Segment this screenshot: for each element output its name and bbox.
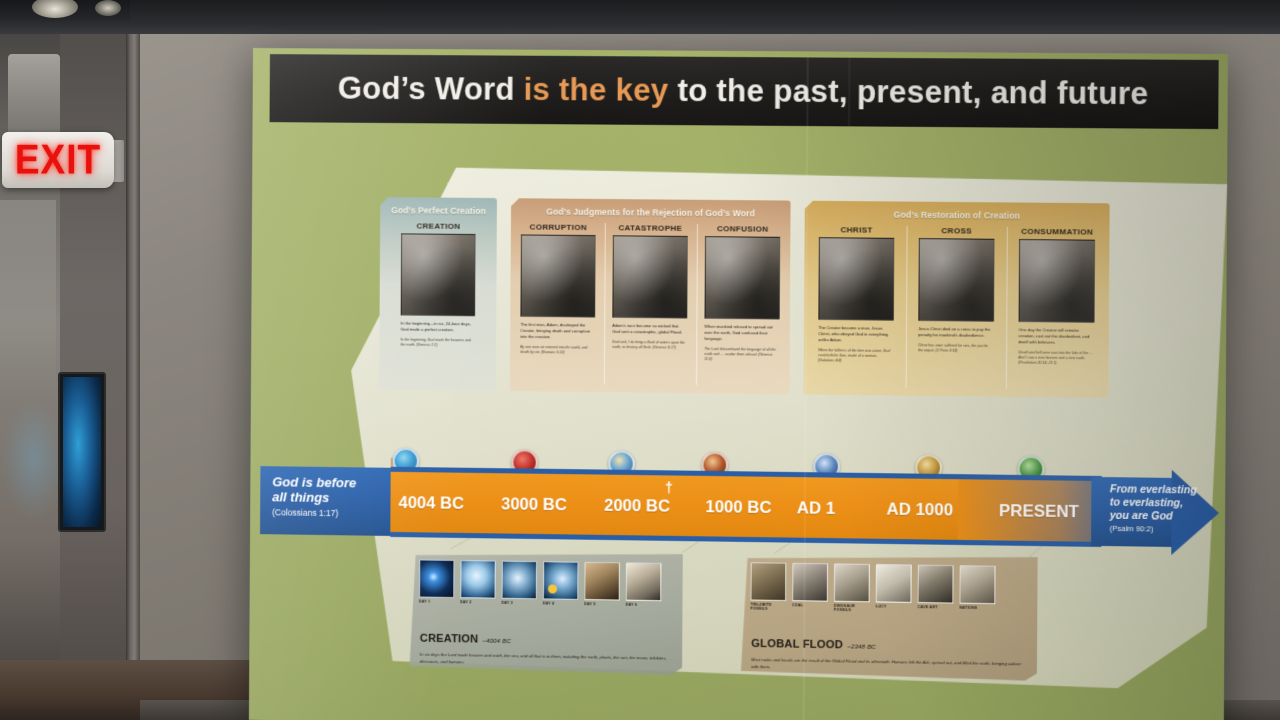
creation-callout: DAY 1 DAY 2 DAY 3 DAY 4 DAY 5 [410, 550, 683, 675]
card-body: One day the Creator will remake creation… [1018, 327, 1094, 346]
callout-date: ~4004 BC [482, 639, 511, 645]
card-cross[interactable]: CROSS Jesus Christ died on a cross to pa… [916, 226, 997, 354]
card-title: CORRUPTION [530, 222, 587, 232]
ceiling-light-icon [95, 0, 121, 16]
callout-title: CREATION~4004 BC [420, 633, 511, 646]
thumb-image [419, 559, 454, 598]
section-perfect-creation: God’s Perfect Creation CREATION In the b… [379, 197, 497, 391]
timeline: God is before all things (Colossians 1:1… [260, 456, 1225, 558]
thumb-label: COAL [792, 603, 828, 608]
card-body: Jesus Christ died on a cross to pay the … [918, 326, 994, 339]
thumb-label: DAY 3 [502, 601, 537, 606]
ceiling-panel [130, 0, 1280, 22]
thumb-image [792, 563, 828, 602]
card-verse: Death and hell were cast into the lake o… [1018, 350, 1094, 366]
section-heading: God’s Restoration of Creation [805, 209, 1110, 222]
wall-highlight [0, 200, 56, 400]
room-pillar [126, 0, 140, 720]
cards-group: CREATION In the beginning—in six, 24-hou… [379, 221, 497, 391]
title-seam [848, 58, 850, 127]
thumb-nations[interactable]: NATIONS [959, 565, 995, 615]
callout-date: ~2348 BC [847, 644, 876, 651]
thumb-image [751, 562, 787, 601]
title-part-after: to the past, present, and future [668, 73, 1148, 112]
exit-sign-label: EXIT [15, 136, 101, 183]
thumb-image [584, 562, 620, 601]
callout-title: GLOBAL FLOOD~2348 BC [751, 638, 876, 652]
card-verse: Christ has once suffered for sins, the j… [918, 343, 994, 354]
card-creation[interactable]: CREATION In the beginning—in six, 24-hou… [398, 221, 477, 348]
timeline-date-ad1000: AD 1000 [886, 501, 953, 521]
card-corruption[interactable]: CORRUPTION The first man, Adam, disobeye… [518, 222, 598, 355]
callout-body: In six days the Lord made heaven and ear… [420, 652, 685, 669]
thumb-day-3[interactable]: DAY 3 [502, 561, 538, 606]
monitor-glow [2, 400, 66, 520]
exit-sign: EXIT [2, 132, 114, 188]
thumb-dinosaur-fossils[interactable]: DINOSAUR FOSSILS [834, 563, 870, 613]
thumb-image [834, 563, 870, 602]
card-christ[interactable]: CHRIST The Creator became a man, Jesus C… [816, 225, 896, 364]
callout-body: Most rocks and fossils are the result of… [751, 657, 1029, 675]
card-consummation[interactable]: CONSUMMATION One day the Creator will re… [1016, 227, 1097, 366]
left-label-line2: all things [272, 490, 388, 507]
thumb-label: DAY 4 [543, 601, 578, 606]
card-title: CONSUMMATION [1021, 227, 1093, 237]
card-image [918, 238, 994, 322]
timeline-date-present: PRESENT [999, 502, 1079, 522]
timeline-date-1000bc: 1000 BC [705, 498, 771, 518]
poster-title: God’s Word is the key to the past, prese… [338, 71, 1149, 113]
sun-icon [548, 584, 557, 593]
cards-group: CHRIST The Creator became a man, Jesus C… [804, 225, 1110, 398]
thumb-label: DAY 6 [626, 603, 661, 608]
card-verse: When the fullness of the time was come, … [818, 348, 894, 364]
card-image [1019, 239, 1095, 323]
thumb-label: CAVE ART [918, 605, 954, 610]
card-confusion[interactable]: CONFUSION When mankind refused to spread… [702, 224, 782, 362]
card-image [401, 233, 476, 316]
card-verse: The Lord did confound the language of al… [704, 347, 779, 363]
card-body: In the beginning—in six, 24-hour days, G… [401, 321, 475, 334]
thumb-day-2[interactable]: DAY 2 [460, 560, 496, 605]
thumb-image [626, 562, 662, 601]
thumb-trilobite-fossils[interactable]: TRILOBITE FOSSILS [750, 562, 786, 612]
thumb-cave-art[interactable]: CAVE ART [918, 565, 954, 615]
thumb-image [502, 561, 538, 600]
callout-title-text: CREATION [420, 633, 479, 646]
thumb-coal[interactable]: COAL [792, 563, 828, 613]
card-body: When mankind refused to spread out over … [704, 324, 779, 343]
card-image [520, 234, 595, 317]
thumb-day-4[interactable]: DAY 4 [543, 561, 579, 606]
timeline-date-4004bc: 4004 BC [398, 494, 464, 514]
timeline-date-3000bc: 3000 BC [501, 495, 567, 515]
card-image [818, 237, 894, 321]
wall-poster: God’s Word is the key to the past, prese… [249, 48, 1228, 720]
card-title: CHRIST [840, 225, 872, 234]
thumb-day-1[interactable]: DAY 1 [419, 559, 454, 604]
creation-thumbs: DAY 1 DAY 2 DAY 3 DAY 4 DAY 5 [419, 559, 661, 607]
flood-thumbs: TRILOBITE FOSSILS COAL DINOSAUR FOSSILS … [750, 562, 995, 615]
card-body: The Creator became a man, Jesus Christ, … [818, 325, 894, 344]
card-verse: By one man sin entered into the world, a… [520, 345, 595, 356]
thumb-label: LUCY [876, 604, 912, 609]
thumb-day-5[interactable]: DAY 5 [584, 562, 620, 607]
card-body: Adam’s race became so wicked that God se… [612, 323, 687, 336]
monitor-screen [63, 377, 101, 527]
card-image [612, 235, 687, 318]
card-title: CREATION [416, 221, 460, 230]
panels-row: God’s Perfect Creation CREATION In the b… [379, 197, 1112, 406]
thumb-image [460, 560, 495, 599]
thumb-image [918, 565, 954, 604]
thumb-label: DAY 2 [460, 600, 495, 605]
card-catastrophe[interactable]: CATASTROPHE Adam’s race became so wicked… [610, 223, 690, 350]
card-title: CROSS [941, 226, 972, 235]
section-judgments: God’s Judgments for the Rejection of God… [510, 198, 791, 394]
cross-marker-icon: † [665, 479, 673, 495]
cards-group: CORRUPTION The first man, Adam, disobeye… [510, 222, 791, 394]
thumb-image [959, 565, 995, 604]
thumb-day-6[interactable]: DAY 6 [626, 562, 662, 607]
poster-title-bar: God’s Word is the key to the past, prese… [270, 54, 1219, 129]
flood-callout: TRILOBITE FOSSILS COAL DINOSAUR FOSSILS … [741, 553, 1038, 681]
timeline-date-ad1: AD 1 [797, 499, 835, 519]
title-part-accent: is the key [523, 72, 668, 108]
timeline-dates: 4004 BC 3000 BC 2000 BC 1000 BC † AD 1 A… [390, 472, 1143, 543]
timeline-date-2000bc: 2000 BC [604, 497, 670, 517]
thumb-label: DAY 1 [419, 600, 454, 605]
thumb-image [543, 561, 579, 600]
thumb-label: DINOSAUR FOSSILS [834, 604, 870, 613]
card-verse: In the beginning, God made the heavens a… [400, 337, 474, 348]
card-title: CONFUSION [717, 224, 769, 234]
callout-title-text: GLOBAL FLOOD [751, 638, 843, 652]
card-verse: God said, I do bring a flood of waters u… [612, 340, 687, 351]
left-label-line1: God is before [272, 474, 388, 491]
title-part-before: God’s Word [338, 71, 524, 107]
section-heading: God’s Perfect Creation [380, 205, 497, 216]
thumb-label: TRILOBITE FOSSILS [750, 603, 786, 612]
card-body: The first man, Adam, disobeyed the Creat… [520, 322, 595, 341]
section-heading: God’s Judgments for the Rejection of God… [511, 206, 791, 219]
section-restoration: God’s Restoration of Creation CHRIST The… [804, 201, 1110, 398]
thumb-label: NATIONS [959, 606, 995, 611]
thumb-lucy[interactable]: LUCY [876, 564, 912, 614]
thumb-label: DAY 5 [584, 602, 619, 607]
wall-monitor [58, 372, 106, 532]
left-label-reference: (Colossians 1:17) [272, 507, 388, 519]
timeline-left-label: God is before all things (Colossians 1:1… [272, 474, 389, 518]
card-image [705, 236, 781, 319]
thumb-image [876, 564, 912, 603]
card-title: CATASTROPHE [618, 223, 682, 233]
